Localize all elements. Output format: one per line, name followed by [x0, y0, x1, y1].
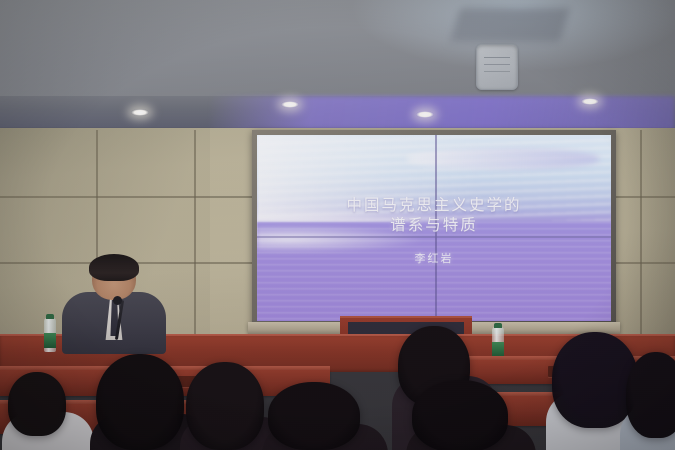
projection-screen-frame: 中国马克思主义史学的 谱系与特质 李红岩 [252, 130, 616, 326]
projector-light-glow [210, 96, 675, 132]
microphone-head-icon [113, 296, 122, 305]
water-bottle-left-label [44, 333, 56, 348]
ceiling [0, 0, 675, 104]
lecture-hall-photo: 中国马克思主义史学的 谱系与特质 李红岩 [0, 0, 675, 450]
wall-seam-v-2 [194, 130, 196, 336]
audience-member-3-head [268, 382, 360, 450]
ceiling-downlight-4 [581, 98, 599, 105]
audience-member-far-left-head [8, 372, 66, 436]
audience-member-5-head [412, 380, 508, 450]
screen-panel-seam-horizontal [257, 236, 611, 238]
audience-member-2-head [186, 362, 264, 450]
ceiling-downlight-2 [281, 101, 299, 108]
ceiling-downlight-1 [131, 109, 149, 116]
ceiling-vent-panel [476, 44, 518, 90]
slide-title-block: 中国马克思主义史学的 谱系与特质 [257, 196, 611, 236]
ceiling-downlight-3 [416, 111, 434, 118]
water-bottle-center-label [492, 342, 504, 357]
audience-member-1-head [96, 354, 184, 450]
water-bottle-left-cap [46, 314, 54, 319]
wall-seam-v-3 [640, 130, 642, 336]
ceiling-shadow-patch [450, 8, 570, 42]
slide-author: 李红岩 [257, 250, 611, 266]
slide-title-line-2: 谱系与特质 [257, 216, 611, 236]
audience-member-7-head [626, 352, 675, 438]
slide-title-line-1: 中国马克思主义史学的 [257, 196, 611, 216]
projection-screen: 中国马克思主义史学的 谱系与特质 李红岩 [257, 135, 611, 321]
water-bottle-center-cap [494, 323, 502, 328]
audience-member-6-head [552, 332, 638, 428]
speaker-hair [89, 254, 139, 281]
